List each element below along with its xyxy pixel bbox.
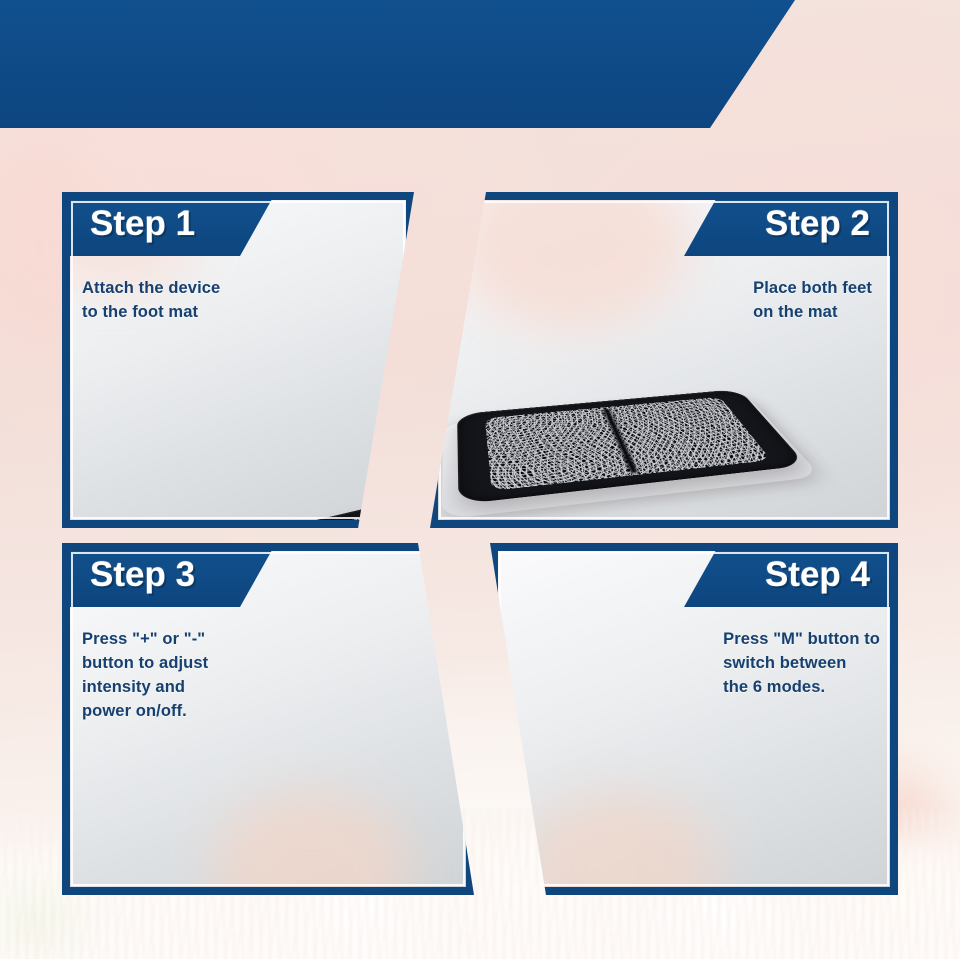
background-blur-green: [4, 895, 74, 941]
step-tab-3-label: Step 3: [90, 549, 195, 601]
panel4-wash: [520, 793, 720, 895]
step-1-description: Attach the device to the foot mat: [82, 276, 220, 324]
step-tab-1: Step 1: [62, 192, 276, 256]
step-tab-1-label: Step 1: [90, 198, 195, 250]
step-panel-3: MASSAGE KNEAD SCRAPE 3 ELBOW PRESSING AC…: [62, 543, 474, 895]
step-panel-1: Step 1 Attach the device to the foot mat: [62, 192, 414, 528]
step-tab-4-label: Step 4: [765, 549, 870, 601]
header-banner: [0, 0, 795, 128]
step-panel-4: MASSAGE KNEAD SCRAPE 3 ELBOW PRESSING AC…: [490, 543, 898, 895]
panel2-wash: [450, 192, 690, 332]
step-4-description: Press "M" button to switch between the 6…: [723, 627, 880, 699]
step-tab-3: Step 3: [62, 543, 276, 607]
step-tab-2-label: Step 2: [765, 198, 870, 250]
panel3-wash: [212, 793, 412, 895]
step-panel-2: Step 2 Place both feet on the mat: [430, 192, 898, 528]
step-3-description: Press "+" or "-" button to adjust intens…: [82, 627, 208, 723]
infographic-stage: EASY TO USE & OPERATE Step 1 Attach the …: [0, 0, 960, 959]
step-tab-2: Step 2: [684, 192, 898, 256]
step-2-description: Place both feet on the mat: [753, 276, 872, 324]
step-tab-4: Step 4: [684, 543, 898, 607]
